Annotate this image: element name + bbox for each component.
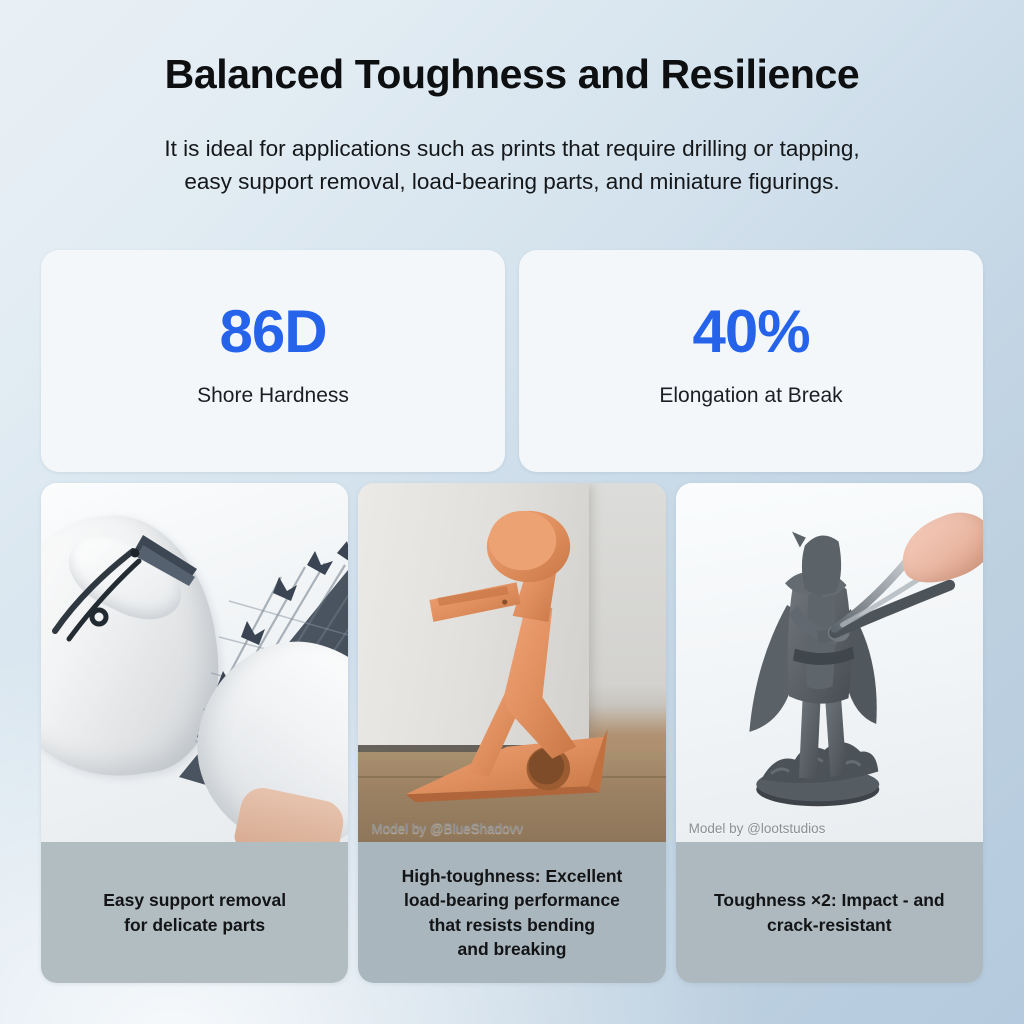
feature-panel-load-bearing: Model by @BlueShadovv High-toughness: Ex… (358, 483, 665, 983)
stat-card-shore-hardness: 86D Shore Hardness (41, 250, 505, 472)
stat-cards-row: 86D Shore Hardness 40% Elongation at Bre… (41, 250, 983, 472)
subtitle-line-2: easy support removal, load-bearing parts… (52, 165, 972, 198)
page-subtitle: It is ideal for applications such as pri… (0, 132, 1024, 198)
page-title: Balanced Toughness and Resilience (0, 52, 1024, 98)
caption-line-4-p2: and breaking (402, 937, 623, 961)
panel-credit-3: Model by @lootstudios (689, 821, 826, 836)
panel-caption-support-removal: Easy support removal for delicate parts (41, 842, 348, 983)
caption-line-2-p1: for delicate parts (103, 913, 286, 937)
caption-line-2-p2: load-bearing performance (402, 888, 623, 912)
panel-caption-crack-resistant: Toughness ×2: Impact - and crack-resista… (676, 842, 983, 983)
doorstop-figure-photo: Model by @BlueShadovv (358, 483, 665, 842)
panel-caption-load-bearing: High-toughness: Excellent load-bearing p… (358, 842, 665, 983)
orange-stick-figure-doorstop-shape (358, 483, 665, 842)
subtitle-line-1: It is ideal for applications such as pri… (52, 132, 972, 165)
stat-label-shore-hardness: Shore Hardness (197, 384, 349, 408)
marketing-infographic: Balanced Toughness and Resilience It is … (0, 0, 1024, 1024)
support-removal-photo (41, 483, 348, 842)
stat-value-shore-hardness: 86D (219, 302, 326, 362)
header-section: Balanced Toughness and Resilience It is … (0, 52, 1024, 198)
stat-card-elongation-at-break: 40% Elongation at Break (519, 250, 983, 472)
feature-panel-support-removal: Easy support removal for delicate parts (41, 483, 348, 983)
caption-line-3-p2: that resists bending (402, 913, 623, 937)
stat-label-elongation-at-break: Elongation at Break (659, 384, 842, 408)
caption-line-2-p3: crack-resistant (714, 913, 945, 937)
stat-value-elongation-at-break: 40% (692, 302, 809, 362)
feature-panel-crack-resistant: Model by @lootstudios Toughness ×2: Impa… (676, 483, 983, 983)
panel-credit-2: Model by @BlueShadovv (371, 821, 523, 836)
feature-panels-row: Easy support removal for delicate parts (41, 483, 983, 983)
caption-line-1-p2: High-toughness: Excellent (402, 864, 623, 888)
miniature-figurine-photo: Model by @lootstudios (676, 483, 983, 842)
caption-line-1-p1: Easy support removal (103, 888, 286, 912)
caption-line-1-p3: Toughness ×2: Impact - and (714, 888, 945, 912)
